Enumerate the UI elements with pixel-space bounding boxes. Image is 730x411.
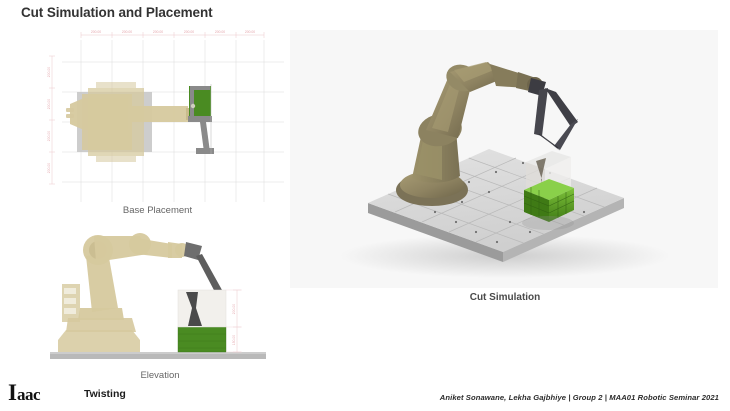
workpiece-3d bbox=[522, 151, 574, 230]
dim-label-top-2: 200.00 bbox=[122, 30, 132, 34]
logo-initial: I bbox=[8, 380, 17, 405]
dim-label-left-3: 200.00 bbox=[47, 131, 51, 141]
iaac-logo: Iaac bbox=[8, 381, 40, 404]
elevation-dimension-chain: 200.00 150.00 bbox=[226, 290, 242, 352]
robot-arm-top-view bbox=[66, 82, 189, 162]
elevation-caption: Elevation bbox=[85, 370, 235, 381]
dim-label-left-1: 200.00 bbox=[47, 67, 51, 77]
logo-rest: aac bbox=[17, 385, 40, 404]
top-dimension-chain: 200.00 200.00 200.00 200.00 200.00 200.0… bbox=[81, 30, 264, 38]
elevation-drawing: 200.00 150.00 bbox=[36, 222, 288, 368]
end-effector-side-view bbox=[184, 242, 222, 294]
slide-canvas: Cut Simulation and Placement 200.00 200.… bbox=[0, 0, 730, 411]
ground-bar bbox=[50, 352, 266, 359]
base-placement-drawing: 200.00 200.00 200.00 200.00 200.00 200.0… bbox=[36, 26, 288, 204]
footer-project-name: Twisting bbox=[84, 388, 126, 400]
hot-wire-cutter-tool bbox=[528, 78, 578, 151]
dim-label-top-3: 200.00 bbox=[153, 30, 163, 34]
page-title: Cut Simulation and Placement bbox=[21, 5, 212, 20]
dim-label-elev-2: 150.00 bbox=[232, 335, 236, 345]
cut-simulation-render bbox=[290, 30, 718, 288]
dim-label-top-4: 200.00 bbox=[184, 30, 194, 34]
dim-label-left-4: 200.00 bbox=[47, 163, 51, 173]
dim-label-top-6: 200.00 bbox=[245, 30, 255, 34]
base-placement-caption: Base Placement bbox=[80, 205, 235, 216]
workpiece-elevation bbox=[178, 290, 226, 352]
robot-arm-side-view bbox=[58, 233, 189, 352]
dim-label-elev-1: 200.00 bbox=[232, 304, 236, 314]
dim-label-left-2: 200.00 bbox=[47, 99, 51, 109]
dim-label-top-5: 200.00 bbox=[215, 30, 225, 34]
dim-label-top-1: 200.00 bbox=[91, 30, 101, 34]
cut-simulation-panel bbox=[290, 30, 718, 288]
left-dimension-chain: 200.00 200.00 200.00 200.00 bbox=[47, 56, 55, 184]
footer-credits: Aniket Sonawane, Lekha Gajbhiye | Group … bbox=[440, 393, 719, 402]
cut-simulation-caption: Cut Simulation bbox=[405, 292, 605, 303]
